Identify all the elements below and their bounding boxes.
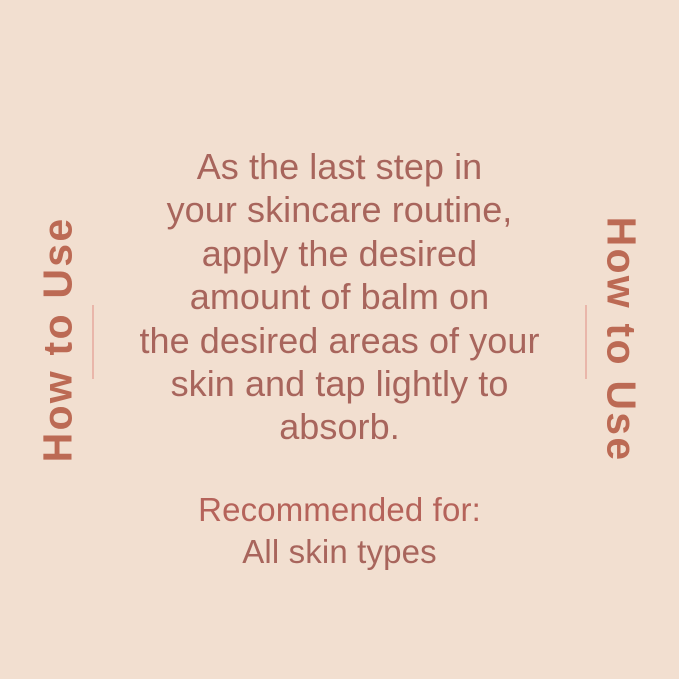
instruction-paragraph: As the last step inyour skincare routine… bbox=[139, 145, 539, 449]
divider-line-right bbox=[585, 305, 587, 379]
side-heading-left: How to Use bbox=[22, 0, 94, 679]
recommended-label: Recommended for: bbox=[198, 489, 481, 531]
side-heading-right: How to Use bbox=[585, 0, 657, 679]
recommended-block: Recommended for: All skin types bbox=[198, 489, 481, 574]
how-to-use-card: How to Use How to Use As the last step i… bbox=[0, 0, 679, 679]
recommended-value: All skin types bbox=[198, 531, 481, 574]
side-heading-right-label: How to Use bbox=[601, 217, 642, 463]
content-block: As the last step inyour skincare routine… bbox=[104, 0, 575, 679]
divider-line-left bbox=[92, 305, 94, 379]
side-heading-left-label: How to Use bbox=[38, 217, 79, 463]
